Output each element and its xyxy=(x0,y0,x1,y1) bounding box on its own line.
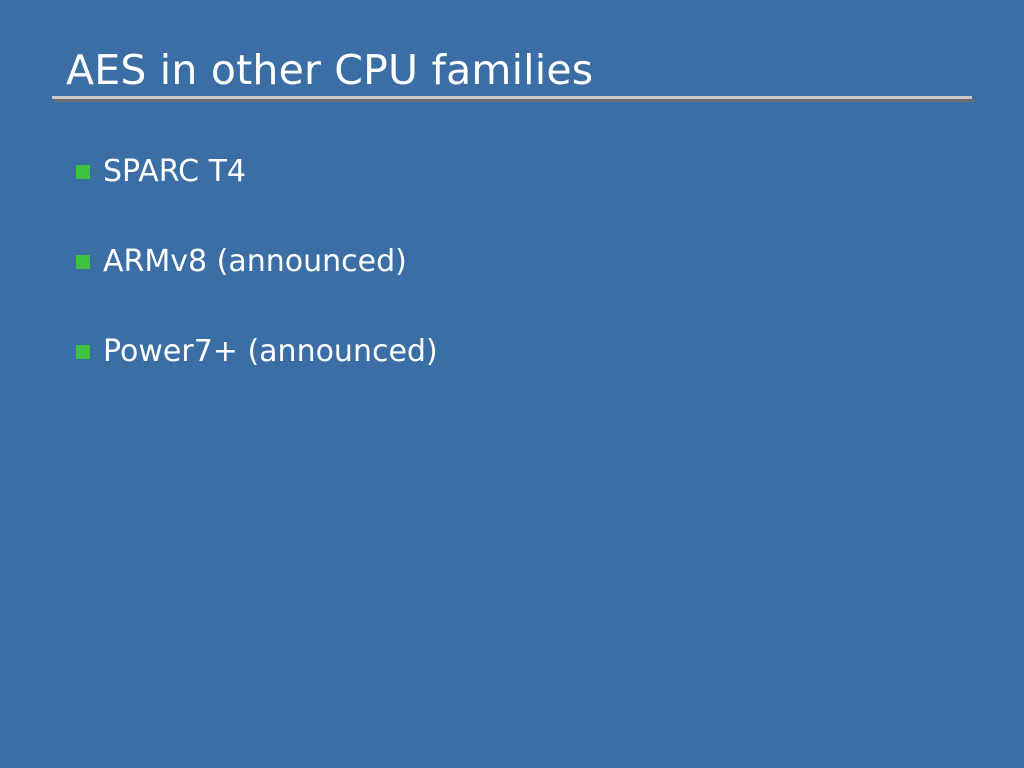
list-item: ARMv8 (announced) xyxy=(76,242,956,286)
list-item-label: ARMv8 (announced) xyxy=(103,241,407,283)
title-divider-shadow xyxy=(54,99,974,102)
square-bullet-icon xyxy=(76,255,90,269)
square-bullet-icon xyxy=(76,165,90,179)
list-item-label: SPARC T4 xyxy=(103,151,246,193)
presentation-slide: AES in other CPU families SPARC T4 ARMv8… xyxy=(0,0,1024,768)
list-item-label: Power7+ (announced) xyxy=(103,331,438,373)
square-bullet-icon xyxy=(76,345,90,359)
page-title: AES in other CPU families xyxy=(66,44,593,96)
list-item: SPARC T4 xyxy=(76,152,956,196)
list-item: Power7+ (announced) xyxy=(76,332,956,376)
slide-title-block: AES in other CPU families xyxy=(52,44,972,106)
bullet-list: SPARC T4 ARMv8 (announced) Power7+ (anno… xyxy=(76,152,956,422)
